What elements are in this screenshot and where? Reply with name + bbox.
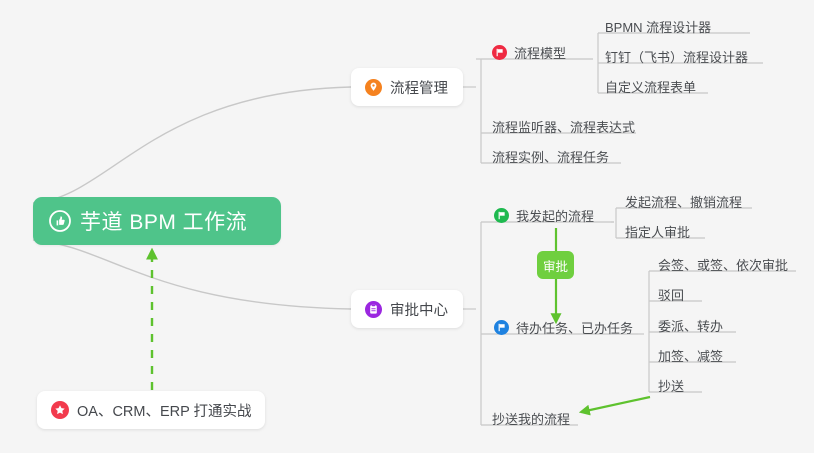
node-process-model-label: 流程模型 [514, 43, 566, 62]
node-add-remove-signer-label: 加签、减签 [658, 346, 723, 365]
node-bpmn-designer-label: BPMN 流程设计器 [605, 17, 711, 36]
flag-icon [492, 45, 507, 60]
node-start-cancel-process[interactable]: 发起流程、撤销流程 [625, 192, 742, 215]
node-process-instance-task-label: 流程实例、流程任务 [492, 147, 609, 166]
node-assignee-approval-label: 指定人审批 [625, 222, 690, 241]
node-carbon-copy[interactable]: 抄送 [658, 376, 684, 399]
node-oa-crm-erp[interactable]: OA、CRM、ERP 打通实战 [37, 391, 265, 429]
node-process-management[interactable]: 流程管理 [351, 68, 463, 106]
node-delegate-transfer[interactable]: 委派、转办 [658, 316, 723, 339]
clipboard-icon [365, 301, 382, 318]
node-multi-or-sequential-approval[interactable]: 会签、或签、依次审批 [658, 255, 788, 278]
node-dingtalk-feishu-designer[interactable]: 钉钉（飞书）流程设计器 [605, 47, 748, 70]
node-approval-center[interactable]: 审批中心 [351, 290, 463, 328]
location-pin-icon [365, 79, 382, 96]
arrow-cc-to-cc-processes [581, 397, 650, 412]
node-todo-done-tasks[interactable]: 待办任务、已办任务 [494, 318, 633, 341]
flag-icon [494, 320, 509, 335]
node-approval-center-label: 审批中心 [390, 299, 448, 320]
node-start-cancel-process-label: 发起流程、撤销流程 [625, 192, 742, 211]
node-todo-done-tasks-label: 待办任务、已办任务 [516, 318, 633, 337]
node-add-remove-signer[interactable]: 加签、减签 [658, 346, 723, 369]
node-my-initiated-processes[interactable]: 我发起的流程 [494, 206, 594, 229]
node-process-model[interactable]: 流程模型 [492, 43, 566, 66]
node-carbon-copy-label: 抄送 [658, 376, 684, 395]
node-cc-to-me-processes-label: 抄送我的流程 [492, 409, 570, 428]
connector-root-to-process-mgmt [33, 87, 351, 203]
node-bpmn-designer[interactable]: BPMN 流程设计器 [605, 17, 711, 40]
node-process-instance-task[interactable]: 流程实例、流程任务 [492, 147, 609, 170]
node-reject[interactable]: 驳回 [658, 285, 684, 308]
node-cc-to-me-processes[interactable]: 抄送我的流程 [492, 409, 570, 432]
root-label: 芋道 BPM 工作流 [80, 206, 247, 236]
mindmap-canvas: 芋道 BPM 工作流 流程管理 审批中心 [0, 0, 814, 453]
node-dingtalk-feishu-designer-label: 钉钉（飞书）流程设计器 [605, 47, 748, 66]
node-multi-or-sequential-approval-label: 会签、或签、依次审批 [658, 255, 788, 274]
star-icon [51, 401, 69, 419]
node-delegate-transfer-label: 委派、转办 [658, 316, 723, 335]
connector-root-to-approval-center [33, 240, 351, 309]
root-node[interactable]: 芋道 BPM 工作流 [33, 197, 281, 245]
node-assignee-approval[interactable]: 指定人审批 [625, 222, 690, 245]
node-process-listener-expression-label: 流程监听器、流程表达式 [492, 117, 635, 136]
node-reject-label: 驳回 [658, 285, 684, 304]
node-oa-crm-erp-label: OA、CRM、ERP 打通实战 [77, 400, 252, 421]
node-process-management-label: 流程管理 [390, 77, 448, 98]
node-custom-process-form[interactable]: 自定义流程表单 [605, 77, 696, 100]
approval-flow-badge-label: 审批 [543, 256, 568, 275]
node-custom-process-form-label: 自定义流程表单 [605, 77, 696, 96]
node-my-initiated-processes-label: 我发起的流程 [516, 206, 594, 225]
approval-flow-badge: 审批 [537, 251, 574, 279]
flag-icon [494, 208, 509, 223]
node-process-listener-expression[interactable]: 流程监听器、流程表达式 [492, 117, 635, 140]
thumbs-up-icon [49, 210, 71, 232]
